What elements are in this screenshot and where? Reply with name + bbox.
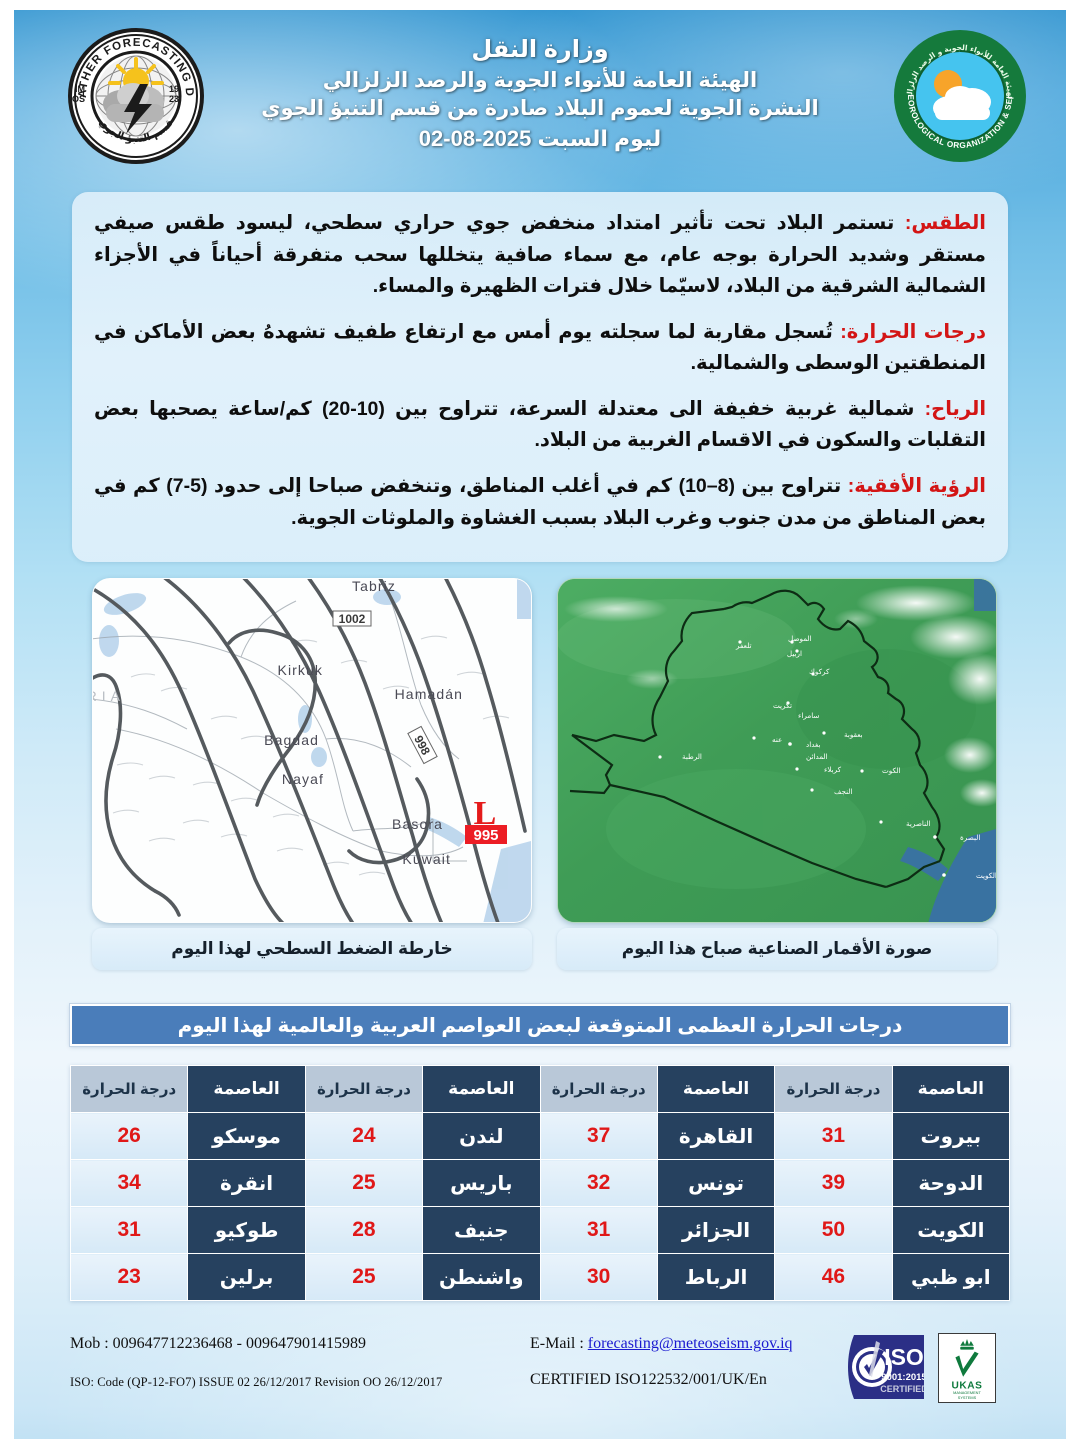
- svg-text:تكريت: تكريت: [773, 701, 792, 710]
- svg-text:9001:2015: 9001:2015: [881, 1372, 924, 1383]
- temp-cell: 31: [775, 1113, 892, 1160]
- city-cell: بيروت: [892, 1113, 1009, 1160]
- city-cell: برلين: [188, 1254, 305, 1301]
- page-footer: Mob : 009647712236468 - 009647901415989 …: [62, 1333, 1018, 1413]
- header-city-3: العاصمة: [423, 1066, 540, 1113]
- svg-text:1002: 1002: [339, 612, 366, 626]
- capital-temperatures-table: العاصمة درجة الحرارة العاصمة درجة الحرار…: [70, 1065, 1010, 1301]
- svg-text:الموصل: الموصل: [788, 634, 812, 643]
- surface-pressure-map[interactable]: 1002 998 Tabriz Kirkuk Hamadán Bagdad Na…: [92, 578, 532, 923]
- header-city-2: العاصمة: [657, 1066, 774, 1113]
- header-city-4: العاصمة: [188, 1066, 305, 1113]
- iso-code-line: ISO: Code (QP-12-FO7) ISSUE 02 26/12/201…: [70, 1375, 442, 1390]
- header-temp-4: درجة الحرارة: [71, 1066, 188, 1113]
- temp-cell: 30: [540, 1254, 657, 1301]
- iraq-meteorological-organization-logo: الهيئة العامة للأنواء الجوية و الرصد الز…: [890, 26, 1030, 166]
- forecast-wind-paragraph: الرياح: شمالية غربية خفيفة الى معتدلة ال…: [94, 394, 986, 457]
- temperature-label: درجات الحرارة:: [840, 321, 986, 343]
- svg-text:Nayaf: Nayaf: [282, 771, 324, 787]
- temp-cell: 25: [305, 1160, 422, 1207]
- temp-cell: 26: [71, 1113, 188, 1160]
- weather-label: الطقس:: [905, 212, 986, 234]
- weather-bulletin-page: WEATHER FORECASTING DEPT. قسم التنبؤ الج…: [0, 0, 1080, 1449]
- city-cell: باريس: [423, 1160, 540, 1207]
- svg-text:تلعفر: تلعفر: [735, 641, 751, 650]
- header-temp-2: درجة الحرارة: [540, 1066, 657, 1113]
- temp-cell: 23: [71, 1254, 188, 1301]
- svg-text:995: 995: [473, 827, 498, 844]
- table-header-row: العاصمة درجة الحرارة العاصمة درجة الحرار…: [71, 1066, 1010, 1113]
- table-row: ابو ظبي 46 الرباط 30 واشنطن 25 برلين 23: [71, 1254, 1010, 1301]
- temperature-table-title: درجات الحرارة العظمى المتوقعة لبعض العوا…: [70, 1004, 1010, 1046]
- city-cell: جنيف: [423, 1207, 540, 1254]
- svg-text:CERTIFIED: CERTIFIED: [880, 1384, 924, 1394]
- table-row: الدوحة 39 تونس 32 باريس 25 انقرة 34: [71, 1160, 1010, 1207]
- svg-text:ISO: ISO: [884, 1344, 924, 1370]
- temp-cell: 50: [775, 1207, 892, 1254]
- svg-text:UKAS: UKAS: [951, 1380, 982, 1391]
- forecast-visibility-paragraph: الرؤية الأفقية: تتراوح بين (8–10) كم في …: [94, 471, 986, 534]
- weather-text: تستمر البلاد تحت تأثير امتداد منخفض جوي …: [94, 212, 986, 297]
- header-temp-3: درجة الحرارة: [305, 1066, 422, 1113]
- svg-text:عنه: عنه: [772, 735, 782, 744]
- table-row: الكويت 50 الجزائر 31 جنيف 28 طوكيو 31: [71, 1207, 1010, 1254]
- contact-mobile: Mob : 009647712236468 - 009647901415989: [70, 1335, 366, 1353]
- contact-email-line: E-Mail : forecasting@meteoseism.gov.iq: [530, 1335, 793, 1353]
- svg-text:الكوت: الكوت: [882, 766, 901, 775]
- page-header: WEATHER FORECASTING DEPT. قسم التنبؤ الج…: [14, 10, 1066, 188]
- temp-cell: 39: [775, 1160, 892, 1207]
- pressure-map-caption: خارطة الضغط السطحي لهذا اليوم: [92, 928, 532, 970]
- pressure-map-canvas: 1002 998 Tabriz Kirkuk Hamadán Bagdad Na…: [93, 579, 531, 922]
- city-cell: ابو ظبي: [892, 1254, 1009, 1301]
- ukas-badge-icon: UKAS MANAGEMENT SYSTEMS: [938, 1333, 996, 1403]
- svg-text:اربيل: اربيل: [787, 649, 802, 658]
- city-cell: طوكيو: [188, 1207, 305, 1254]
- city-cell: الدوحة: [892, 1160, 1009, 1207]
- city-cell: لندن: [423, 1113, 540, 1160]
- svg-text:Bagdad: Bagdad: [264, 732, 319, 748]
- svg-text:سامراء: سامراء: [798, 711, 819, 720]
- city-cell: الجزائر: [657, 1207, 774, 1254]
- svg-text:MANAGEMENT: MANAGEMENT: [953, 1391, 981, 1395]
- svg-text:Tabriz: Tabriz: [352, 579, 396, 594]
- city-cell: الكويت: [892, 1207, 1009, 1254]
- temp-cell: 28: [305, 1207, 422, 1254]
- table-row: بيروت 31 القاهرة 37 لندن 24 موسكو 26: [71, 1113, 1010, 1160]
- wind-label: الرياح:: [925, 398, 986, 420]
- svg-text:SIRIA: SIRIA: [92, 688, 125, 704]
- header-temp-1: درجة الحرارة: [775, 1066, 892, 1113]
- svg-text:Kirkuk: Kirkuk: [278, 662, 324, 678]
- temp-cell: 32: [540, 1160, 657, 1207]
- svg-text:SYSTEMS: SYSTEMS: [958, 1396, 977, 1400]
- header-city-1: العاصمة: [892, 1066, 1009, 1113]
- page-edge-top: [0, 0, 1080, 10]
- svg-text:الناصرية: الناصرية: [906, 819, 930, 828]
- temp-cell: 34: [71, 1160, 188, 1207]
- svg-text:الرطبة: الرطبة: [682, 752, 702, 761]
- svg-text:كربلاء: كربلاء: [824, 765, 842, 774]
- ukas-badge-graphic: UKAS MANAGEMENT SYSTEMS: [939, 1334, 995, 1402]
- svg-text:بغداد: بغداد: [806, 740, 820, 749]
- city-cell: تونس: [657, 1160, 774, 1207]
- iso-9001-badge-icon: ISO 9001:2015 CERTIFIED: [848, 1331, 924, 1405]
- temp-cell: 31: [540, 1207, 657, 1254]
- temp-cell: 25: [305, 1254, 422, 1301]
- city-cell: الرباط: [657, 1254, 774, 1301]
- svg-text:Kuwait: Kuwait: [402, 851, 451, 867]
- email-label: E-Mail :: [530, 1335, 588, 1352]
- temp-cell: 24: [305, 1113, 422, 1160]
- wind-text: شمالية غربية خفيفة الى معتدلة السرعة، تت…: [94, 398, 986, 452]
- visibility-label: الرؤية الأفقية:: [848, 475, 986, 497]
- temp-cell: 31: [71, 1207, 188, 1254]
- city-cell: موسكو: [188, 1113, 305, 1160]
- city-cell: القاهرة: [657, 1113, 774, 1160]
- svg-text:كركوك: كركوك: [809, 667, 830, 676]
- pressure-map-graphic: 1002 998 Tabriz Kirkuk Hamadán Bagdad Na…: [92, 579, 531, 923]
- satellite-image-map[interactable]: الموصل اربيل تلعفر كركوك تكريت سامراء بع…: [557, 578, 997, 923]
- svg-text:النجف: النجف: [834, 787, 852, 796]
- city-cell: انقرة: [188, 1160, 305, 1207]
- certification-line: CERTIFIED ISO122532/001/UK/En: [530, 1371, 767, 1389]
- temp-cell: 37: [540, 1113, 657, 1160]
- svg-text:المدائن: المدائن: [806, 752, 828, 761]
- satellite-map-graphic: الموصل اربيل تلعفر كركوك تكريت سامراء بع…: [557, 579, 996, 923]
- city-cell: واشنطن: [423, 1254, 540, 1301]
- forecast-temperature-paragraph: درجات الحرارة: تُسجل مقاربة لما سجلته يو…: [94, 317, 986, 380]
- page-edge-bottom: [0, 1439, 1080, 1449]
- svg-text:بعقوبة: بعقوبة: [844, 730, 863, 739]
- satellite-map-canvas: الموصل اربيل تلعفر كركوك تكريت سامراء بع…: [558, 579, 996, 922]
- temp-cell: 46: [775, 1254, 892, 1301]
- page-edge-left: [0, 0, 14, 1449]
- forecast-text-panel: الطقس: تستمر البلاد تحت تأثير امتداد منخ…: [72, 192, 1008, 562]
- satellite-map-caption: صورة الأقمار الصناعية صباح هذا اليوم: [557, 928, 997, 970]
- svg-text:البصرة: البصرة: [960, 833, 980, 842]
- svg-text:Basora: Basora: [392, 816, 443, 832]
- iso-badge-graphic: ISO 9001:2015 CERTIFIED: [848, 1331, 924, 1405]
- svg-text:Hamadán: Hamadán: [395, 686, 463, 702]
- svg-text:الكويت: الكويت: [976, 871, 996, 880]
- forecast-weather-paragraph: الطقس: تستمر البلاد تحت تأثير امتداد منخ…: [94, 208, 986, 303]
- iraq-met-org-logo-icon: الهيئة العامة للأنواء الجوية و الرصد الز…: [890, 26, 1030, 166]
- email-link[interactable]: forecasting@meteoseism.gov.iq: [588, 1335, 793, 1352]
- page-edge-right: [1066, 0, 1080, 1449]
